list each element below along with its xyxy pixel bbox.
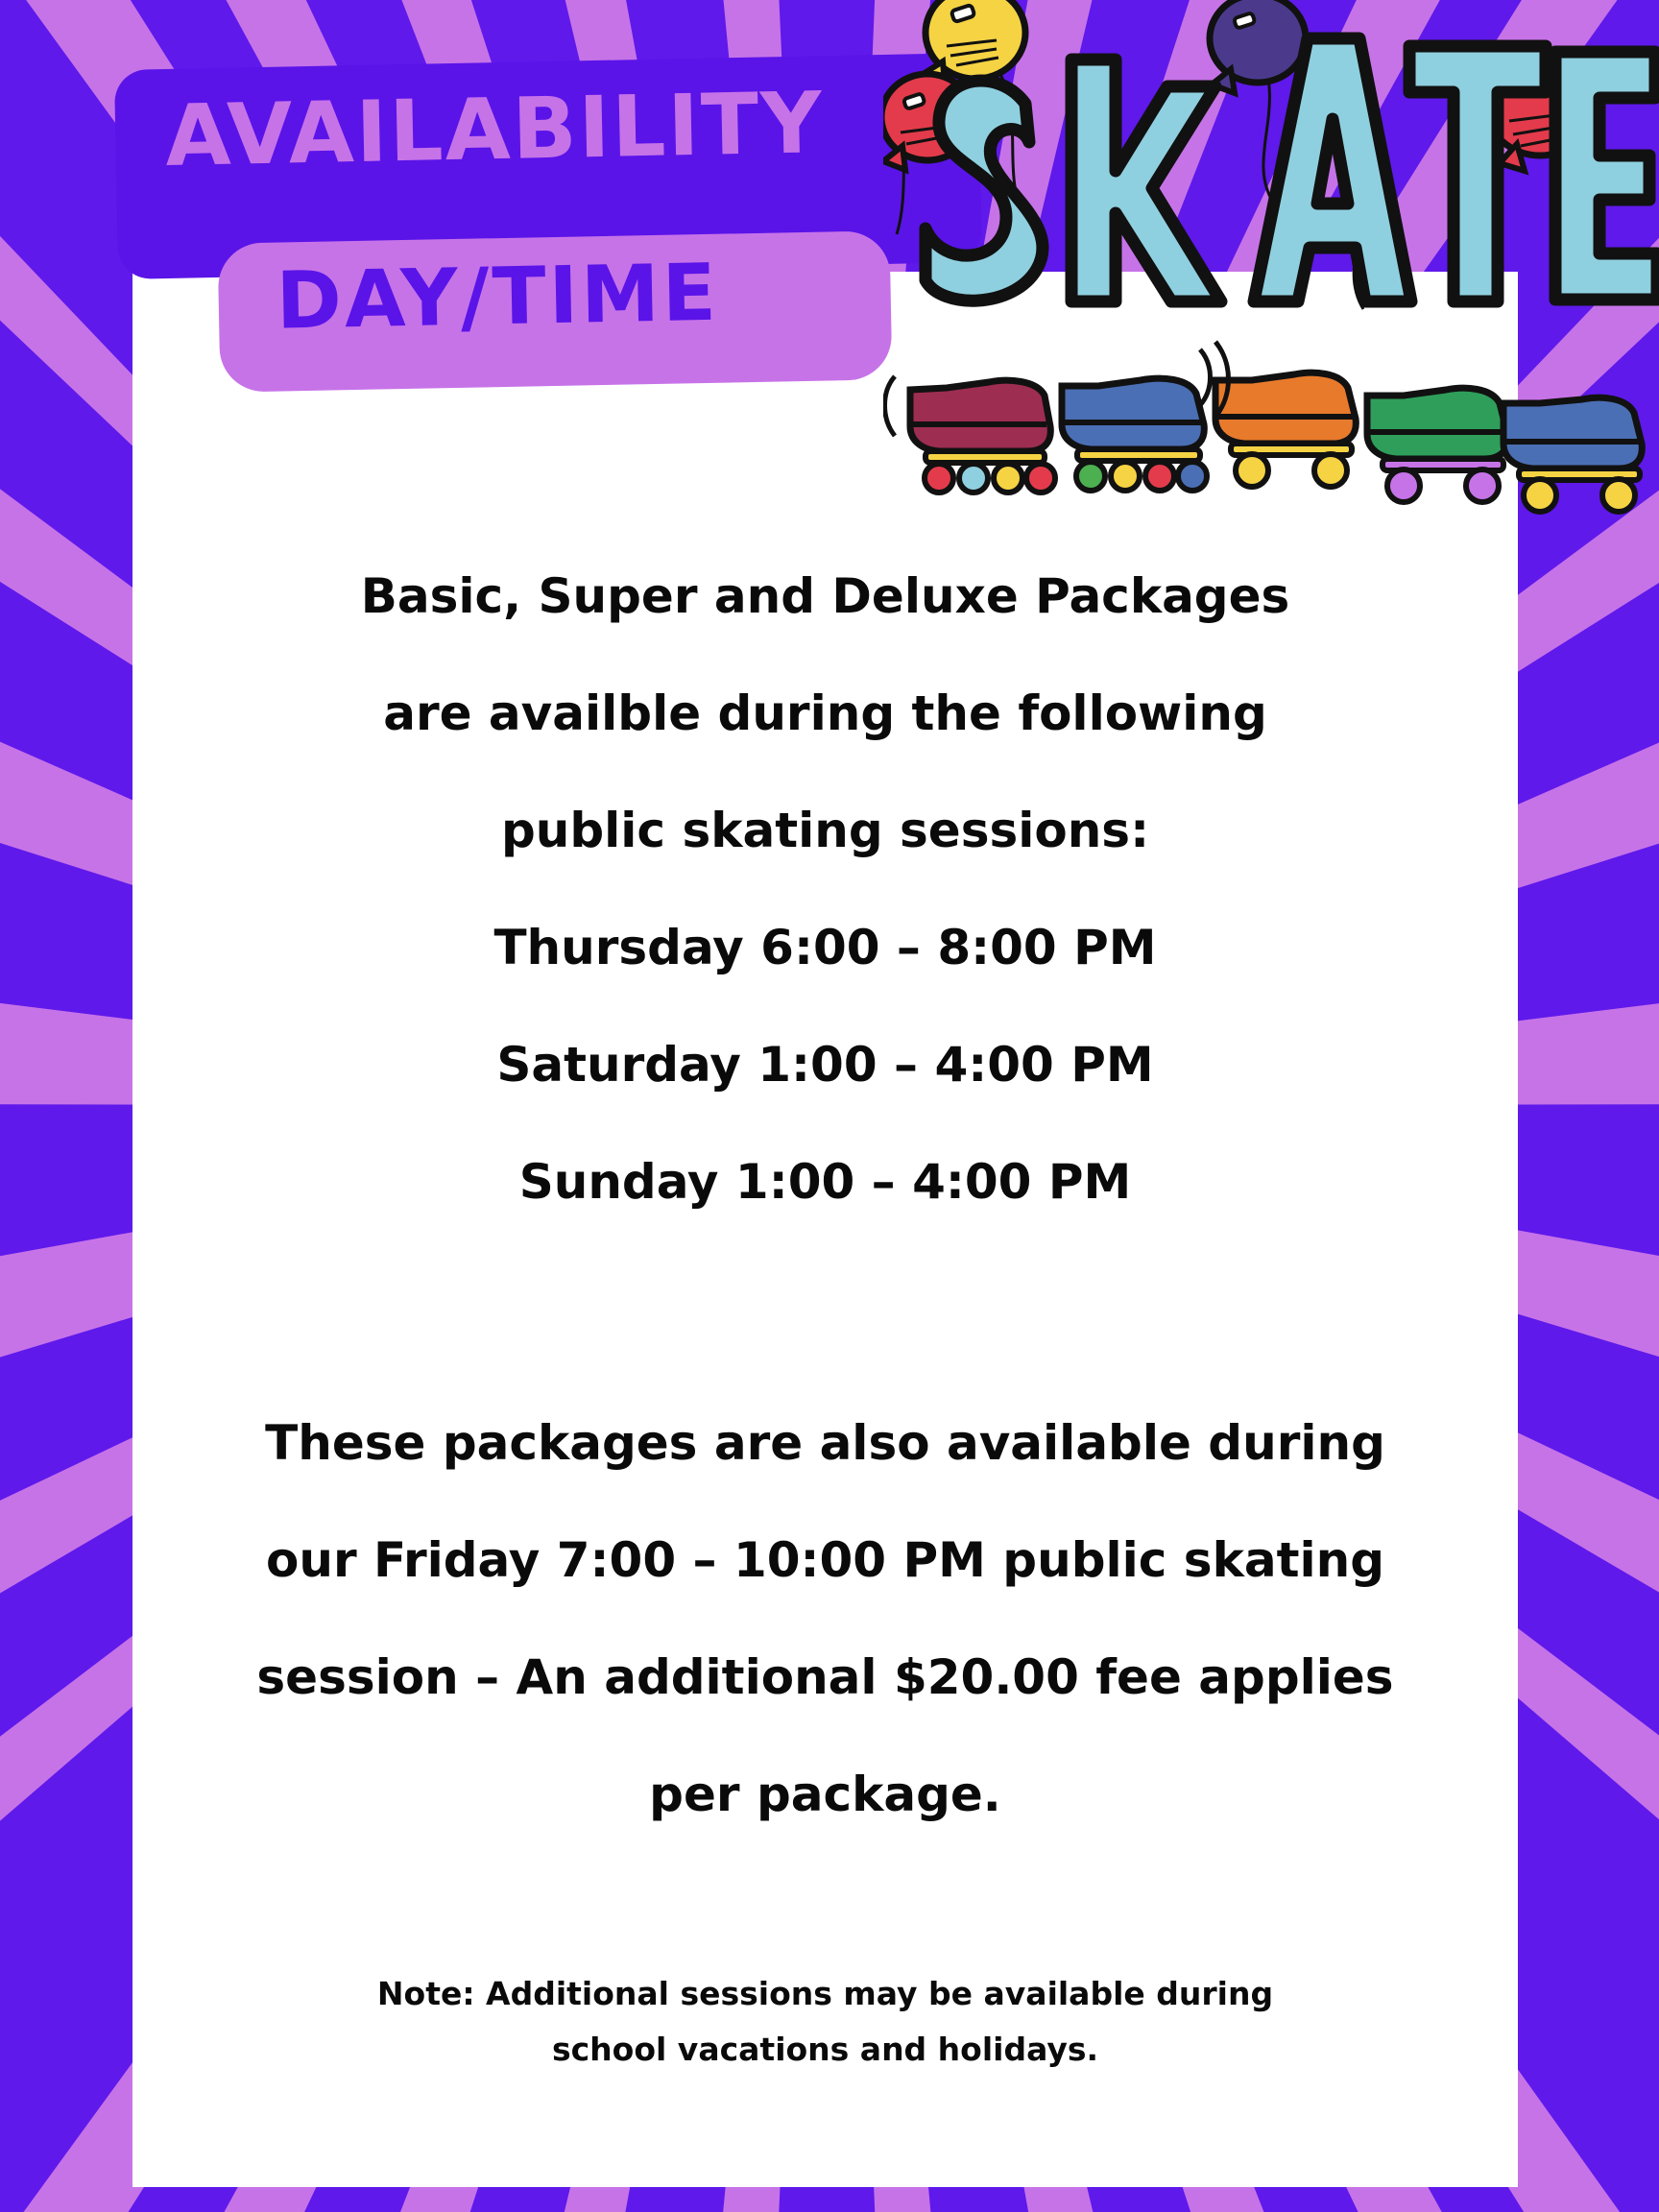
poster-body: Basic, Super and Deluxe Packages are ava… bbox=[132, 538, 1518, 2078]
friday-line-1: These packages are also available during bbox=[171, 1384, 1479, 1502]
session-item: Saturday 1:00 – 4:00 PM bbox=[132, 1006, 1518, 1123]
footer-note-line-2: school vacations and holidays. bbox=[276, 2022, 1374, 2078]
intro-paragraph: Basic, Super and Deluxe Packages are ava… bbox=[132, 538, 1518, 889]
session-list: Thursday 6:00 – 8:00 PM Saturday 1:00 – … bbox=[132, 889, 1518, 1240]
poster-root: AVAILABILITY DAY/TIME bbox=[0, 0, 1659, 2212]
intro-line-2: are availble during the following bbox=[190, 655, 1460, 772]
footer-note: Note: Additional sessions may be availab… bbox=[132, 1966, 1518, 2078]
intro-line-3: public skating sessions: bbox=[190, 772, 1460, 889]
session-item: Thursday 6:00 – 8:00 PM bbox=[132, 889, 1518, 1006]
friday-line-2: our Friday 7:00 – 10:00 PM public skatin… bbox=[171, 1502, 1479, 1619]
footer-note-line-1: Note: Additional sessions may be availab… bbox=[276, 1966, 1374, 2022]
availability-banner-label: AVAILABILITY bbox=[164, 73, 825, 185]
session-item: Sunday 1:00 – 4:00 PM bbox=[132, 1123, 1518, 1240]
friday-paragraph: These packages are also available during… bbox=[132, 1384, 1518, 1853]
daytime-banner: DAY/TIME bbox=[218, 230, 893, 392]
intro-line-1: Basic, Super and Deluxe Packages bbox=[190, 538, 1460, 655]
friday-line-3: session – An additional $20.00 fee appli… bbox=[171, 1619, 1479, 1736]
daytime-banner-label: DAY/TIME bbox=[276, 248, 720, 348]
friday-line-4: per package. bbox=[171, 1736, 1479, 1853]
